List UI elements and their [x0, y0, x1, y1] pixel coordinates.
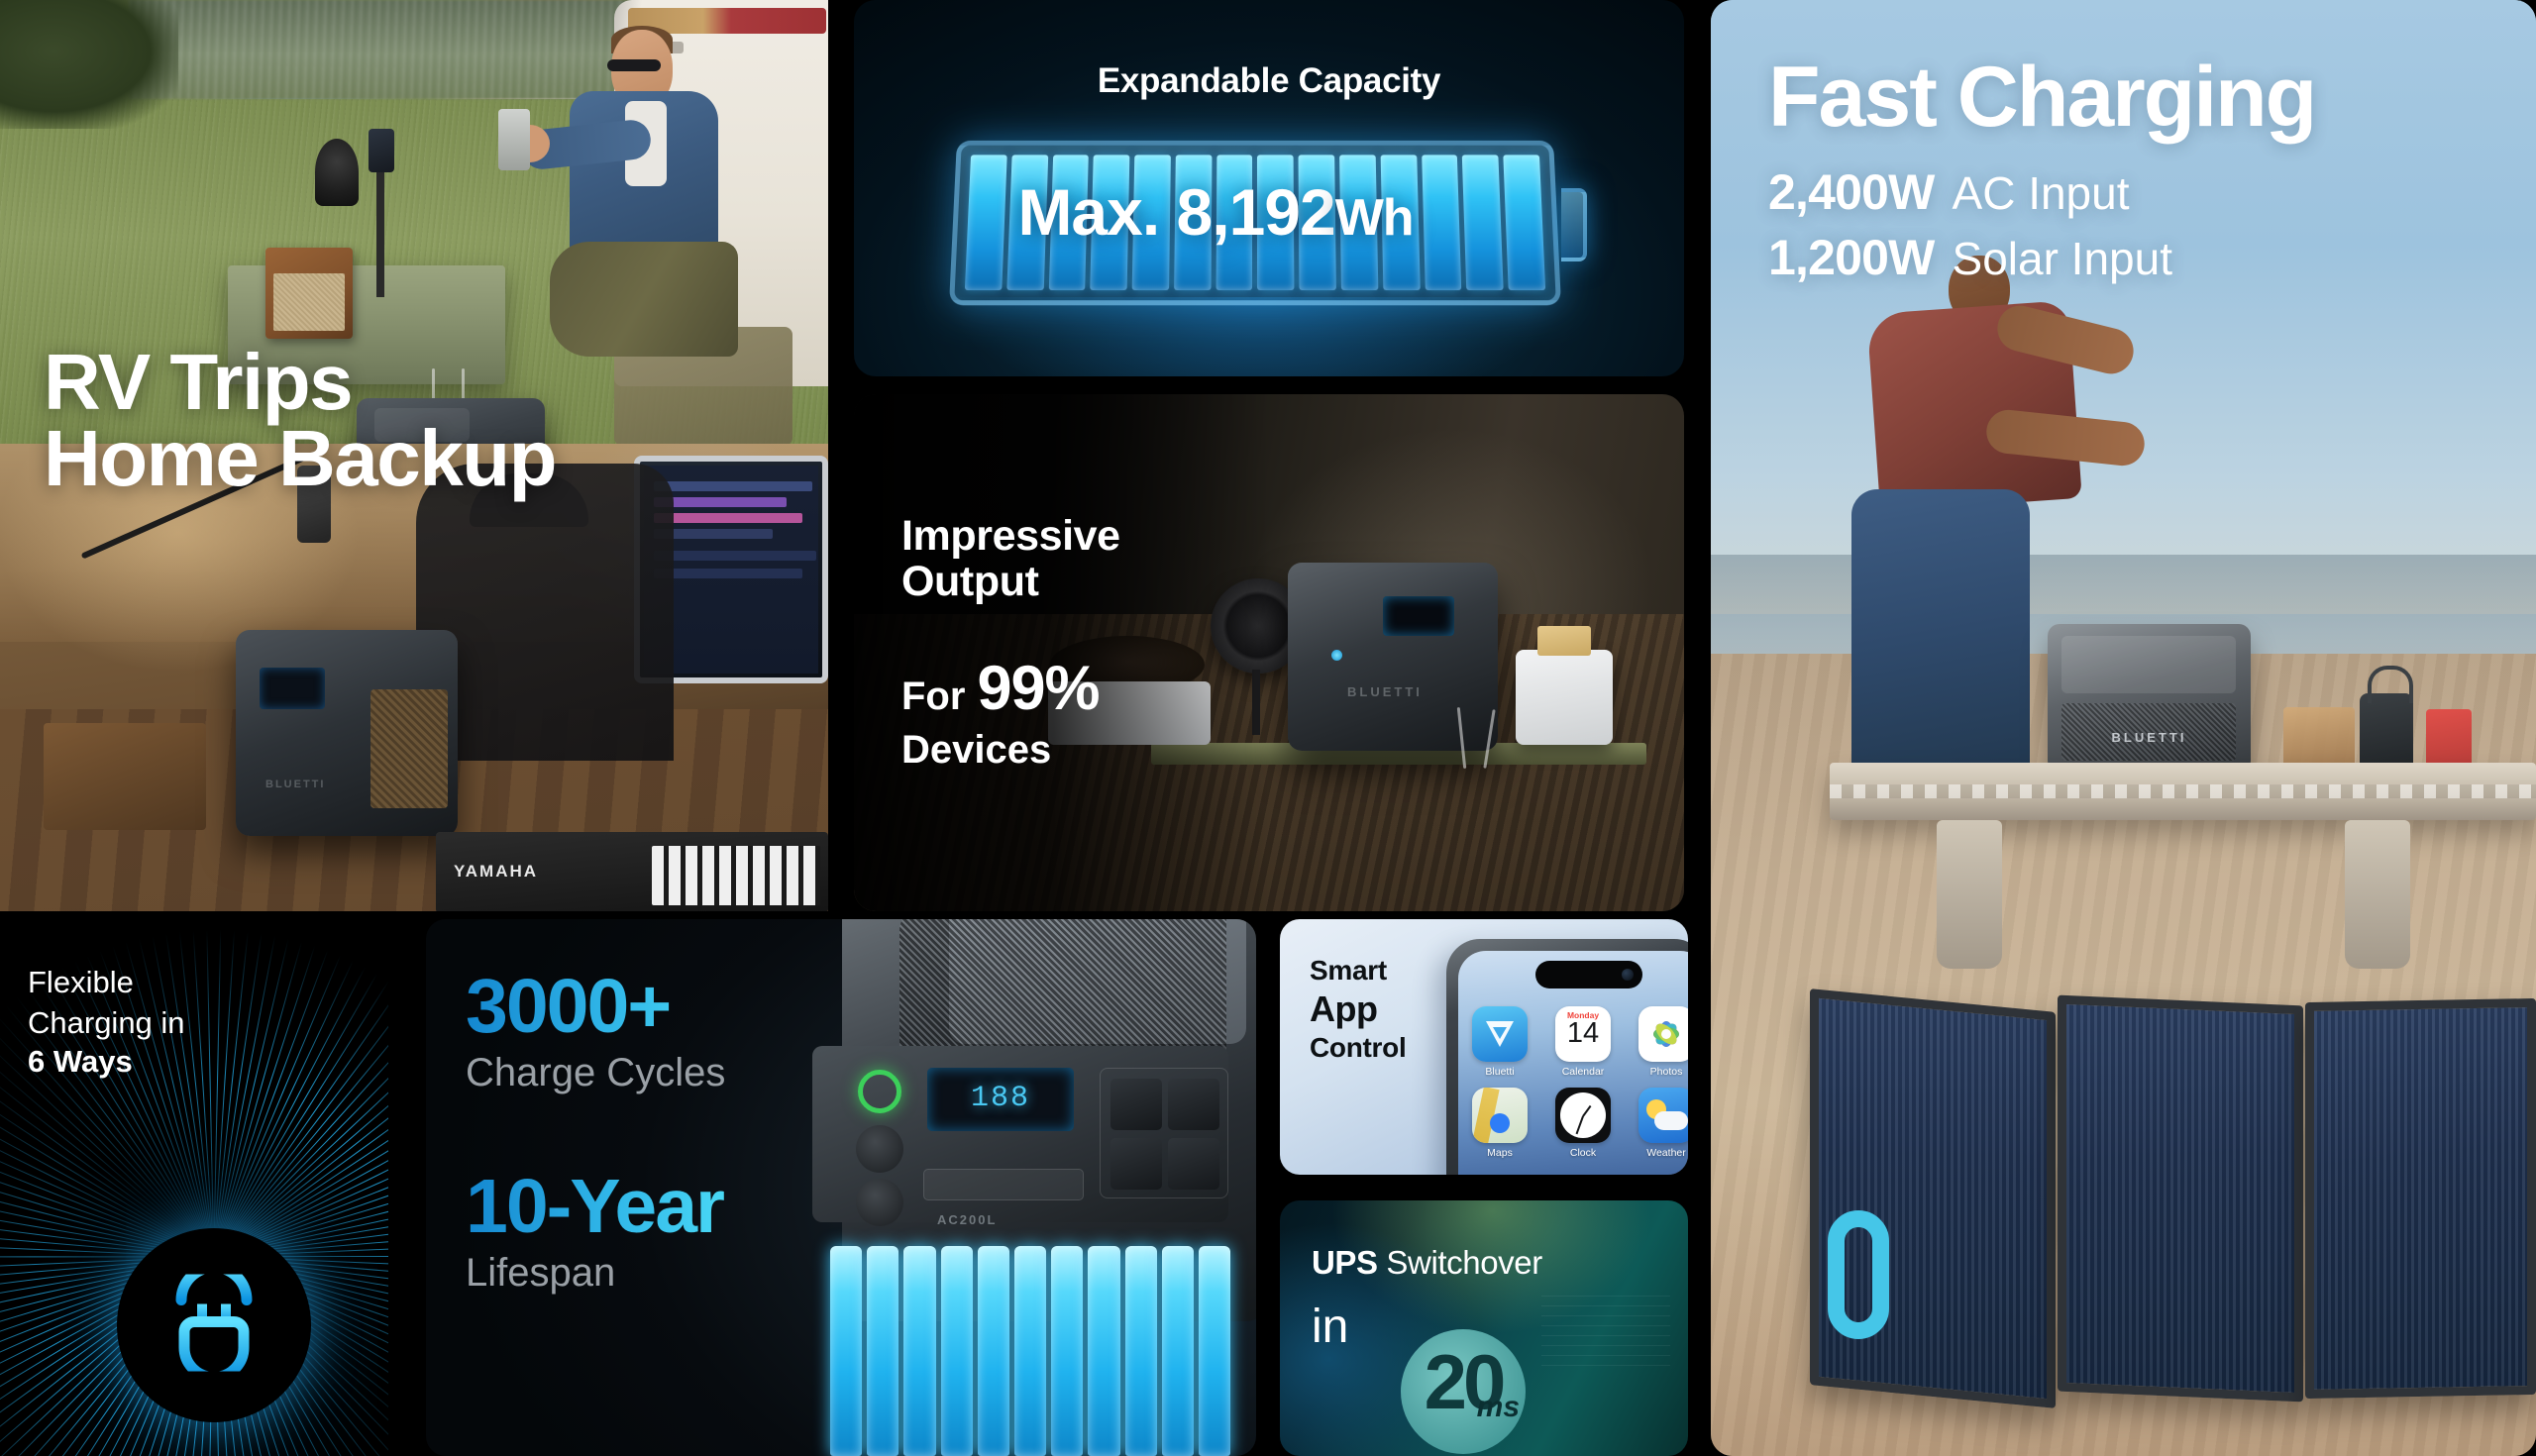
marshall-amp — [44, 723, 206, 830]
app-label: Maps — [1472, 1147, 1528, 1159]
solar-panel-handle — [1828, 1210, 1889, 1339]
panel-flexible-charging: Flexible Charging in 6 Ways — [0, 919, 388, 1456]
marshall-speaker — [265, 248, 353, 339]
power-station-device: BLUETTI — [2048, 624, 2251, 773]
photos-icon[interactable] — [1638, 1006, 1688, 1062]
spec-solar-input: 1,200W Solar Input — [1768, 229, 2315, 286]
output-line2: Output — [901, 559, 1120, 604]
phone-screen: Bluetti Monday 14 Calendar — [1458, 951, 1688, 1175]
device-display-value: 188 — [927, 1082, 1074, 1115]
power-station-device: BLUETTI — [1288, 563, 1498, 751]
capacity-prefix: Max. — [1017, 175, 1159, 249]
bluetti-app-icon[interactable] — [1472, 1006, 1528, 1062]
battery-cell — [867, 1246, 898, 1456]
device-brand-label: BLUETTI — [1347, 684, 1423, 699]
battery-cell — [978, 1246, 1009, 1456]
photo-home-studio: BLUETTI YAMAHA — [0, 444, 828, 911]
app-item-clock[interactable]: Clock — [1555, 1088, 1625, 1159]
app-item-photos[interactable]: Photos — [1638, 1006, 1688, 1078]
lifespan-caption: Lifespan — [466, 1251, 725, 1296]
app-item-bluetti[interactable]: Bluetti — [1472, 1006, 1541, 1078]
flexible-line1: Flexible — [28, 963, 185, 1003]
tree-canopy — [0, 0, 178, 129]
panel-rv-trips-home-backup: BLUETTI BLUETTI — [0, 0, 828, 911]
ac-input-value: 2,400W — [1768, 163, 1935, 221]
scanline-texture — [1541, 1296, 1670, 1375]
battery-cell — [1014, 1246, 1046, 1456]
switchover-unit: ms — [1477, 1391, 1520, 1424]
app-item-maps[interactable]: Maps — [1472, 1088, 1541, 1159]
app-label: Calendar — [1555, 1066, 1611, 1078]
app-item-calendar[interactable]: Monday 14 Calendar — [1555, 1006, 1625, 1078]
app-label: Clock — [1555, 1147, 1611, 1159]
plug-icon-disc — [117, 1228, 311, 1422]
battery-cell — [1125, 1246, 1157, 1456]
panel-smart-app-control: Smart App Control Bluetti — [1280, 919, 1688, 1175]
person-setting-up — [1798, 248, 2085, 802]
camp-fan — [315, 139, 359, 206]
app-control-copy: Smart App Control — [1310, 955, 1406, 1064]
plug-icon — [171, 1275, 257, 1377]
spec-ac-input: 2,400W AC Input — [1768, 163, 2315, 221]
calendar-icon[interactable]: Monday 14 — [1555, 1006, 1611, 1062]
solar-input-label: Solar Input — [1953, 232, 2172, 285]
drink-cup — [498, 109, 530, 170]
calendar-day: 14 — [1555, 1018, 1611, 1050]
power-station-device: BLUETTI — [236, 630, 458, 836]
group-lifespan: 10-Year Lifespan — [466, 1169, 725, 1296]
app-item-weather[interactable]: Weather — [1638, 1088, 1688, 1159]
panel-impressive-output: BLUETTI Impressive Output For 99% Device… — [854, 394, 1684, 911]
fast-charging-title: Fast Charging — [1768, 54, 2315, 140]
battery-cell — [941, 1246, 973, 1456]
table-leg — [1937, 820, 2002, 969]
flexible-line2: Charging in — [28, 1003, 185, 1044]
group-charge-cycles: 3000+ Charge Cycles — [466, 969, 725, 1095]
dynamic-island — [1535, 961, 1642, 988]
table-leg — [2345, 820, 2410, 969]
panel-cycles-lifespan: 188 AC200L 3000+ Charge Cycles 10-Year L… — [426, 919, 1256, 1456]
ups-title: UPS Switchover — [1312, 1244, 1542, 1282]
lifespan-copy: 3000+ Charge Cycles 10-Year Lifespan — [466, 969, 725, 1296]
usb-output-row — [923, 1169, 1084, 1200]
fast-charging-copy: Fast Charging 2,400W AC Input 1,200W Sol… — [1768, 54, 2315, 286]
mounted-phone — [369, 129, 394, 172]
app-line3: Control — [1310, 1032, 1406, 1064]
output-for-label: For — [901, 675, 965, 719]
output-line1: Impressive — [901, 513, 1120, 559]
maps-icon[interactable] — [1472, 1088, 1528, 1143]
iphone-mockup: Bluetti Monday 14 Calendar — [1446, 939, 1688, 1175]
device-brand-label: BLUETTI — [265, 779, 325, 790]
yamaha-keyboard: YAMAHA — [436, 832, 828, 911]
device-lcd-display: 188 — [927, 1068, 1074, 1131]
battery-cell — [1162, 1246, 1194, 1456]
app-line2: App — [1310, 988, 1406, 1030]
output-devices-label: Devices — [901, 728, 1120, 773]
charge-cycles-number: 3000+ — [466, 969, 725, 1045]
feature-collage: BLUETTI BLUETTI — [0, 0, 2536, 1456]
ups-title-bold: UPS — [1312, 1244, 1378, 1281]
panel-fast-charging: BLUETTI Fast Charging 2,400W AC Input 1,… — [1711, 0, 2536, 1456]
toaster — [1516, 650, 1613, 745]
solar-input-value: 1,200W — [1768, 229, 1935, 286]
capacity-title: Expandable Capacity — [854, 61, 1684, 101]
folding-solar-panel — [1810, 1000, 2536, 1426]
ups-title-rest: Switchover — [1378, 1244, 1542, 1281]
ray-line — [213, 955, 341, 1257]
capacity-number: 8,192 — [1177, 175, 1335, 249]
ac-outlet-block — [1100, 1068, 1228, 1198]
ups-copy: UPS Switchover in — [1312, 1244, 1542, 1354]
rv-headline-line1: RV Trips — [44, 338, 352, 426]
battery-cell — [1088, 1246, 1119, 1456]
app-label: Weather — [1638, 1147, 1688, 1159]
capacity-unit: Wh — [1335, 189, 1414, 247]
dc-port — [856, 1125, 903, 1173]
ac-input-label: AC Input — [1953, 166, 2130, 220]
battery-cells-graphic — [830, 1246, 1230, 1456]
rv-headline: RV Trips Home Backup — [44, 345, 556, 497]
person-camper — [540, 30, 738, 357]
flexible-copy: Flexible Charging in 6 Ways — [28, 963, 185, 1080]
app-label: Photos — [1638, 1066, 1688, 1078]
device-model-label: AC200L — [937, 1212, 997, 1227]
battery-cell — [1051, 1246, 1083, 1456]
capacity-value: Max. 8,192Wh — [854, 174, 1577, 250]
ups-line2: in — [1312, 1300, 1542, 1354]
battery-cell — [903, 1246, 935, 1456]
weather-icon[interactable] — [1638, 1088, 1688, 1143]
battery-cell — [1199, 1246, 1230, 1456]
lifespan-number: 10-Year — [466, 1169, 725, 1245]
stone-table — [1830, 763, 2536, 820]
flexible-line3: 6 Ways — [28, 1044, 185, 1080]
output-percent: 99% — [977, 653, 1099, 724]
charge-cycles-caption: Charge Cycles — [466, 1051, 725, 1095]
output-copy: Impressive Output For 99% Devices — [901, 513, 1120, 773]
battery-cell — [830, 1246, 862, 1456]
panel-expandable-capacity: Expandable Capacity Max. 8,192Wh — [854, 0, 1684, 376]
panel-ups-switchover: 20 ms UPS Switchover in — [1280, 1200, 1688, 1456]
power-station-device: 188 AC200L — [802, 919, 1256, 1456]
battery-glow — [943, 297, 1567, 376]
sunglasses — [607, 59, 661, 71]
device-brand-label: BLUETTI — [2048, 730, 2251, 745]
app-label: Bluetti — [1472, 1066, 1528, 1078]
rv-headline-line2: Home Backup — [44, 421, 556, 497]
power-button — [858, 1070, 901, 1113]
dc-port — [856, 1179, 903, 1226]
phone-app-grid: Bluetti Monday 14 Calendar — [1472, 1006, 1688, 1159]
clock-icon[interactable] — [1555, 1088, 1611, 1143]
app-line1: Smart — [1310, 955, 1406, 987]
